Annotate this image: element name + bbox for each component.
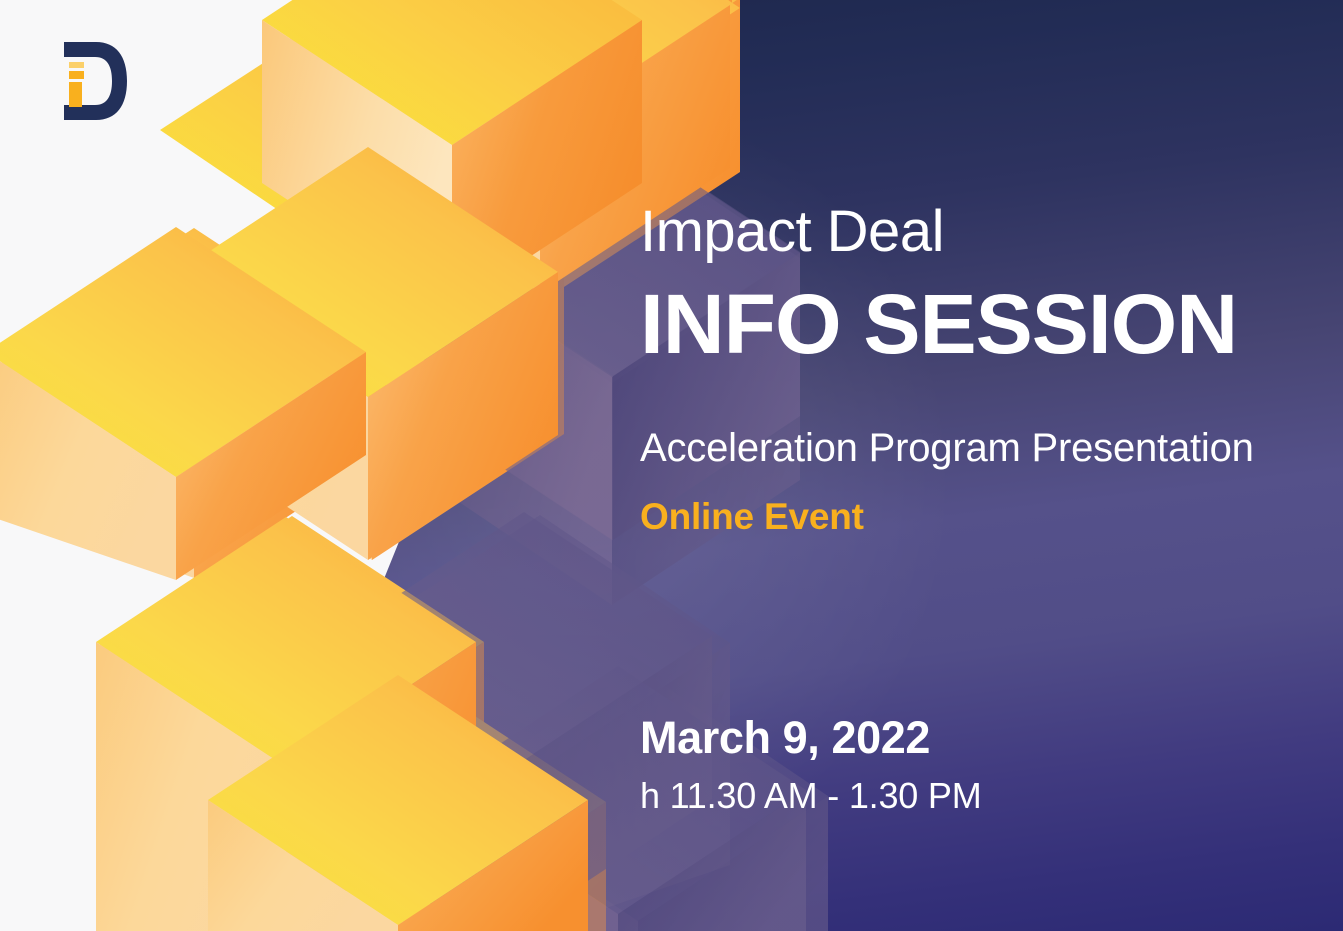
subtitle-text: Acceleration Program Presentation bbox=[640, 428, 1254, 468]
event-time: h 11.30 AM - 1.30 PM bbox=[640, 778, 982, 814]
event-mode-badge: Online Event bbox=[640, 498, 864, 535]
text-block: Impact Deal INFO SESSION Acceleration Pr… bbox=[640, 0, 1300, 931]
event-banner: Impact Deal INFO SESSION Acceleration Pr… bbox=[0, 0, 1343, 931]
logo-i-dot-lower bbox=[69, 71, 84, 79]
eyebrow-text: Impact Deal bbox=[640, 203, 944, 261]
logo-i-dot-upper bbox=[69, 62, 84, 68]
logo-impact-deal bbox=[60, 40, 130, 122]
event-date: March 9, 2022 bbox=[640, 715, 930, 760]
logo-i-stem bbox=[69, 82, 82, 107]
logo-letter-d bbox=[64, 42, 127, 120]
page-title: INFO SESSION bbox=[640, 282, 1237, 366]
